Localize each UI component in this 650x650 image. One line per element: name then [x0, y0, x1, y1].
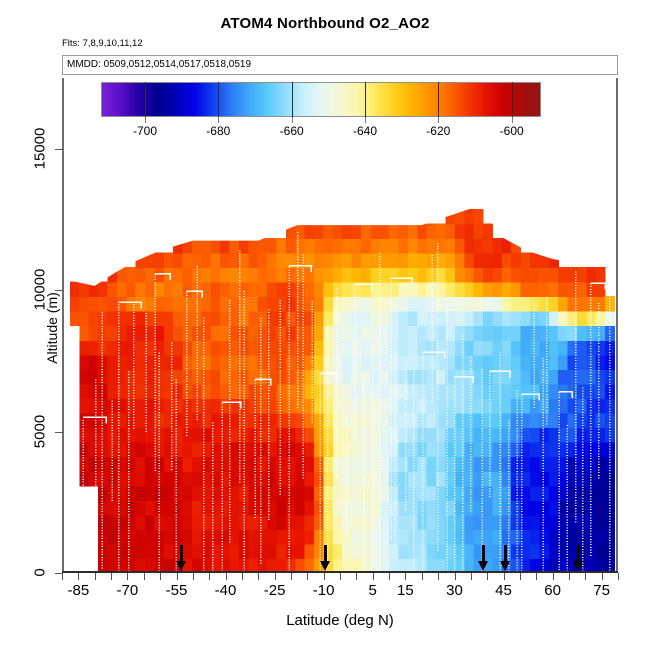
x-axis-tick-label: -10 [313, 582, 335, 599]
x-axis-tick [62, 573, 63, 580]
y-axis-tick [55, 290, 63, 291]
x-axis-tick [307, 573, 308, 580]
x-axis-tick [144, 573, 145, 580]
page-title: ATOM4 Northbound O2_AO2 [0, 15, 650, 32]
x-axis-tick [618, 573, 619, 580]
plot-area: 050001000015000 -85-70-55-40-25-10515304… [62, 78, 618, 573]
x-axis-tick [356, 573, 357, 580]
x-axis-tick-label: -40 [215, 582, 237, 599]
x-axis-tick [258, 573, 259, 580]
x-axis-tick [487, 573, 488, 580]
x-axis-tick [471, 573, 472, 580]
x-axis-label: Latitude (deg N) [62, 612, 618, 629]
x-axis-tick [602, 573, 603, 580]
x-axis-tick-label: 30 [446, 582, 463, 599]
x-axis-tick [422, 573, 423, 580]
x-axis-tick [95, 573, 96, 580]
x-axis-tick [324, 573, 325, 580]
x-axis-tick [373, 573, 374, 580]
x-axis-tick [209, 573, 210, 580]
x-axis-tick-label: -55 [166, 582, 188, 599]
x-axis-tick [177, 573, 178, 580]
x-axis-tick-label: 45 [495, 582, 512, 599]
x-axis-tick [585, 573, 586, 580]
y-axis-tick-label: 0 [32, 543, 49, 603]
x-axis-tick-label: -25 [264, 582, 286, 599]
x-axis-tick [275, 573, 276, 580]
x-axis-tick [291, 573, 292, 580]
x-axis-tick [340, 573, 341, 580]
x-axis-tick [78, 573, 79, 580]
figure-root: ATOM4 Northbound O2_AO2 Flts: 7,8,9,10,1… [0, 0, 650, 650]
heatmap-data [62, 78, 618, 573]
x-axis-tick [226, 573, 227, 580]
y-axis-tick-label: 5000 [32, 401, 49, 461]
x-axis-tick [111, 573, 112, 580]
x-axis-tick-label: 5 [369, 582, 377, 599]
profile-marker-arrow [320, 545, 331, 571]
profile-marker-arrow [500, 545, 511, 571]
x-axis-tick [569, 573, 570, 580]
x-axis-tick-label: -85 [68, 582, 90, 599]
y-axis-tick [55, 432, 63, 433]
x-axis-tick [455, 573, 456, 580]
x-axis-tick [520, 573, 521, 580]
mmdd-legend-label: MMDD: 0509,0512,0514,0517,0518,0519 [67, 59, 251, 70]
y-axis-tick [55, 149, 63, 150]
x-axis-tick-label: -70 [117, 582, 139, 599]
x-axis-tick-label: 15 [397, 582, 414, 599]
profile-marker-arrow [478, 545, 489, 571]
profile-marker-arrow [176, 545, 187, 571]
x-axis-tick [193, 573, 194, 580]
x-axis-tick [553, 573, 554, 580]
y-axis-tick-label: 15000 [32, 118, 49, 178]
mmdd-legend-box: MMDD: 0509,0512,0514,0517,0518,0519 [62, 55, 618, 75]
x-axis-tick [127, 573, 128, 580]
x-axis-tick [504, 573, 505, 580]
profile-marker-arrow [573, 545, 584, 571]
x-axis-tick-label: 75 [593, 582, 610, 599]
x-axis-tick-label: 60 [544, 582, 561, 599]
x-axis-tick [242, 573, 243, 580]
x-axis-tick [389, 573, 390, 580]
x-axis-tick [160, 573, 161, 580]
x-axis-tick [438, 573, 439, 580]
y-axis-line [62, 78, 64, 573]
x-axis-tick [405, 573, 406, 580]
flights-note: Flts: 7,8,9,10,11,12 [62, 38, 143, 49]
y-axis-label: Altitude (m) [44, 292, 60, 364]
right-axis-line [616, 78, 618, 573]
x-axis-tick [536, 573, 537, 580]
